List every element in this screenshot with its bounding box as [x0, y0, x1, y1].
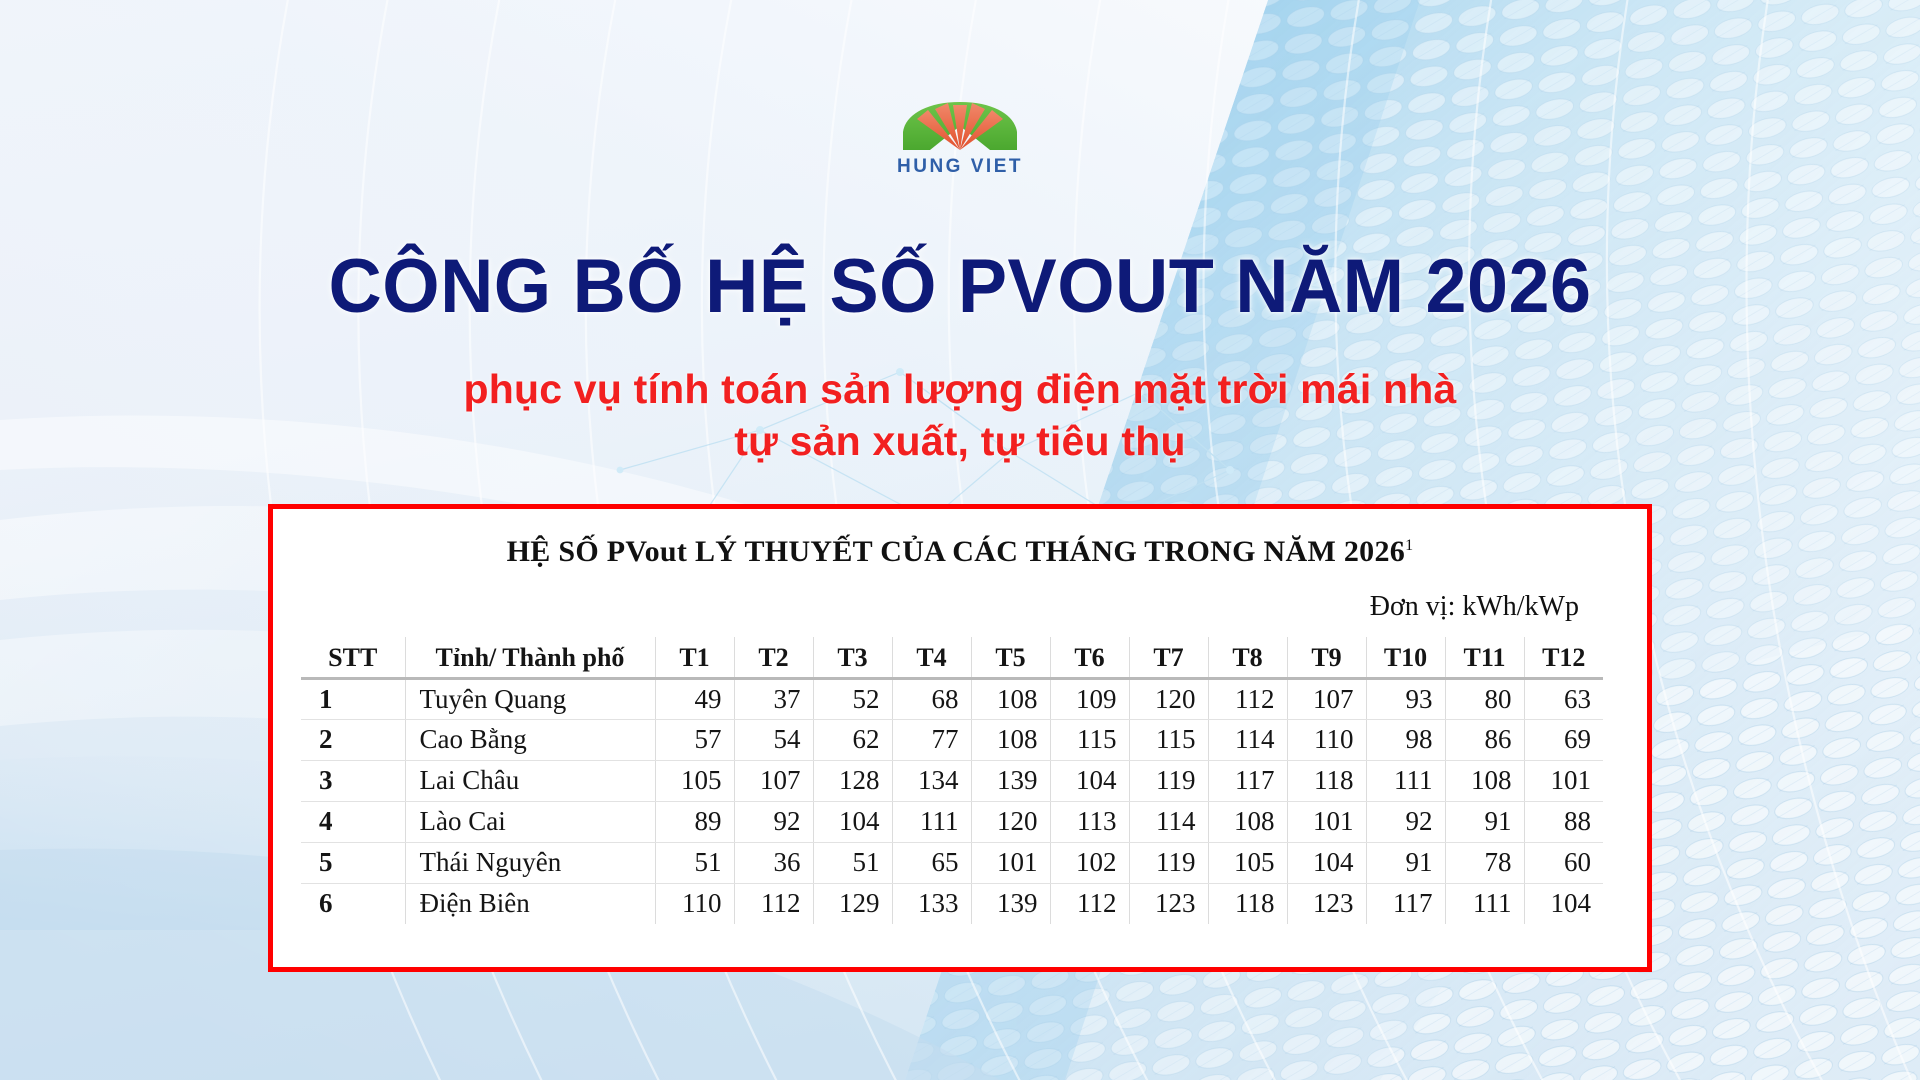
column-header-t7: T7 — [1129, 637, 1208, 678]
cell-month-10: 117 — [1366, 883, 1445, 924]
column-header-t5: T5 — [971, 637, 1050, 678]
cell-month-8: 118 — [1208, 883, 1287, 924]
page-subtitle: phục vụ tính toán sản lượng điện mặt trờ… — [0, 363, 1920, 468]
cell-month-9: 118 — [1287, 760, 1366, 801]
cell-stt: 5 — [301, 842, 405, 883]
cell-month-4: 133 — [892, 883, 971, 924]
table-unit-label: Đơn vị: kWh/kWp — [301, 591, 1619, 623]
cell-month-8: 112 — [1208, 678, 1287, 719]
table-title: HỆ SỐ PVout LÝ THUYẾT CỦA CÁC THÁNG TRON… — [301, 535, 1619, 569]
cell-month-2: 37 — [734, 678, 813, 719]
table-row: 5Thái Nguyên5136516510110211910510491786… — [301, 842, 1603, 883]
cell-month-7: 115 — [1129, 719, 1208, 760]
cell-month-9: 123 — [1287, 883, 1366, 924]
cell-month-8: 117 — [1208, 760, 1287, 801]
cell-month-3: 52 — [813, 678, 892, 719]
cell-month-7: 119 — [1129, 760, 1208, 801]
cell-month-2: 112 — [734, 883, 813, 924]
cell-month-10: 111 — [1366, 760, 1445, 801]
cell-stt: 2 — [301, 719, 405, 760]
column-header-name: Tỉnh/ Thành phố — [405, 637, 655, 678]
table-title-footnote: 1 — [1405, 537, 1413, 554]
cell-month-4: 77 — [892, 719, 971, 760]
cell-month-6: 102 — [1050, 842, 1129, 883]
cell-month-7: 114 — [1129, 801, 1208, 842]
cell-month-12: 101 — [1524, 760, 1603, 801]
cell-month-9: 101 — [1287, 801, 1366, 842]
column-header-t8: T8 — [1208, 637, 1287, 678]
column-header-t12: T12 — [1524, 637, 1603, 678]
cell-month-2: 54 — [734, 719, 813, 760]
cell-month-11: 111 — [1445, 883, 1524, 924]
cell-stt: 3 — [301, 760, 405, 801]
cell-province-name: Lào Cai — [405, 801, 655, 842]
cell-month-11: 86 — [1445, 719, 1524, 760]
column-header-t11: T11 — [1445, 637, 1524, 678]
table-header-row: STT Tỉnh/ Thành phố T1 T2 T3 T4 T5 T6 T7… — [301, 637, 1603, 678]
cell-month-3: 129 — [813, 883, 892, 924]
sunburst-fan-logo-icon — [895, 92, 1025, 154]
pvout-table-card: HỆ SỐ PVout LÝ THUYẾT CỦA CÁC THÁNG TRON… — [268, 504, 1652, 972]
cell-month-4: 68 — [892, 678, 971, 719]
table-body: 1Tuyên Quang4937526810810912011210793806… — [301, 678, 1603, 924]
cell-month-6: 115 — [1050, 719, 1129, 760]
cell-month-10: 92 — [1366, 801, 1445, 842]
cell-month-1: 51 — [655, 842, 734, 883]
cell-month-3: 104 — [813, 801, 892, 842]
cell-month-1: 110 — [655, 883, 734, 924]
cell-month-11: 91 — [1445, 801, 1524, 842]
cell-month-6: 104 — [1050, 760, 1129, 801]
cell-month-5: 139 — [971, 760, 1050, 801]
cell-month-2: 107 — [734, 760, 813, 801]
page-subtitle-line-1: phục vụ tính toán sản lượng điện mặt trờ… — [0, 363, 1920, 415]
cell-month-2: 36 — [734, 842, 813, 883]
cell-month-7: 119 — [1129, 842, 1208, 883]
cell-month-3: 128 — [813, 760, 892, 801]
cell-province-name: Điện Biên — [405, 883, 655, 924]
cell-month-9: 104 — [1287, 842, 1366, 883]
cell-month-11: 80 — [1445, 678, 1524, 719]
cell-stt: 4 — [301, 801, 405, 842]
cell-month-3: 51 — [813, 842, 892, 883]
cell-month-10: 93 — [1366, 678, 1445, 719]
table-row: 4Lào Cai8992104111120113114108101929188 — [301, 801, 1603, 842]
cell-month-1: 89 — [655, 801, 734, 842]
cell-month-2: 92 — [734, 801, 813, 842]
cell-month-10: 91 — [1366, 842, 1445, 883]
table-row: 1Tuyên Quang4937526810810912011210793806… — [301, 678, 1603, 719]
cell-month-11: 108 — [1445, 760, 1524, 801]
table-title-text: HỆ SỐ PVout LÝ THUYẾT CỦA CÁC THÁNG TRON… — [507, 535, 1405, 568]
brand-logo: HUNG VIET — [860, 92, 1060, 192]
column-header-t3: T3 — [813, 637, 892, 678]
cell-month-4: 111 — [892, 801, 971, 842]
cell-month-8: 105 — [1208, 842, 1287, 883]
cell-province-name: Cao Bằng — [405, 719, 655, 760]
pvout-table: STT Tỉnh/ Thành phố T1 T2 T3 T4 T5 T6 T7… — [301, 637, 1603, 924]
cell-month-7: 123 — [1129, 883, 1208, 924]
cell-month-8: 108 — [1208, 801, 1287, 842]
cell-month-12: 60 — [1524, 842, 1603, 883]
cell-month-5: 139 — [971, 883, 1050, 924]
cell-month-5: 108 — [971, 719, 1050, 760]
table-row: 6Điện Biên110112129133139112123118123117… — [301, 883, 1603, 924]
cell-month-6: 109 — [1050, 678, 1129, 719]
brand-wordmark: HUNG VIET — [860, 157, 1060, 176]
cell-month-1: 49 — [655, 678, 734, 719]
cell-province-name: Lai Châu — [405, 760, 655, 801]
column-header-t1: T1 — [655, 637, 734, 678]
cell-stt: 6 — [301, 883, 405, 924]
cell-month-1: 57 — [655, 719, 734, 760]
cell-month-3: 62 — [813, 719, 892, 760]
cell-month-9: 110 — [1287, 719, 1366, 760]
page-title: CÔNG BỐ HỆ SỐ PVOUT NĂM 2026 — [29, 248, 1891, 326]
column-header-t9: T9 — [1287, 637, 1366, 678]
cell-month-5: 108 — [971, 678, 1050, 719]
cell-month-8: 114 — [1208, 719, 1287, 760]
column-header-t2: T2 — [734, 637, 813, 678]
cell-month-5: 120 — [971, 801, 1050, 842]
column-header-t6: T6 — [1050, 637, 1129, 678]
cell-month-12: 104 — [1524, 883, 1603, 924]
cell-month-4: 65 — [892, 842, 971, 883]
table-row: 2Cao Bằng57546277108115115114110988669 — [301, 719, 1603, 760]
cell-month-7: 120 — [1129, 678, 1208, 719]
cell-month-6: 113 — [1050, 801, 1129, 842]
cell-month-9: 107 — [1287, 678, 1366, 719]
cell-month-1: 105 — [655, 760, 734, 801]
cell-month-12: 69 — [1524, 719, 1603, 760]
cell-month-4: 134 — [892, 760, 971, 801]
cell-stt: 1 — [301, 678, 405, 719]
column-header-stt: STT — [301, 637, 405, 678]
cell-province-name: Tuyên Quang — [405, 678, 655, 719]
column-header-t4: T4 — [892, 637, 971, 678]
cell-month-12: 63 — [1524, 678, 1603, 719]
cell-month-10: 98 — [1366, 719, 1445, 760]
column-header-t10: T10 — [1366, 637, 1445, 678]
page-subtitle-line-2: tự sản xuất, tự tiêu thụ — [0, 415, 1920, 467]
cell-province-name: Thái Nguyên — [405, 842, 655, 883]
cell-month-5: 101 — [971, 842, 1050, 883]
cell-month-11: 78 — [1445, 842, 1524, 883]
table-row: 3Lai Châu1051071281341391041191171181111… — [301, 760, 1603, 801]
cell-month-6: 112 — [1050, 883, 1129, 924]
cell-month-12: 88 — [1524, 801, 1603, 842]
